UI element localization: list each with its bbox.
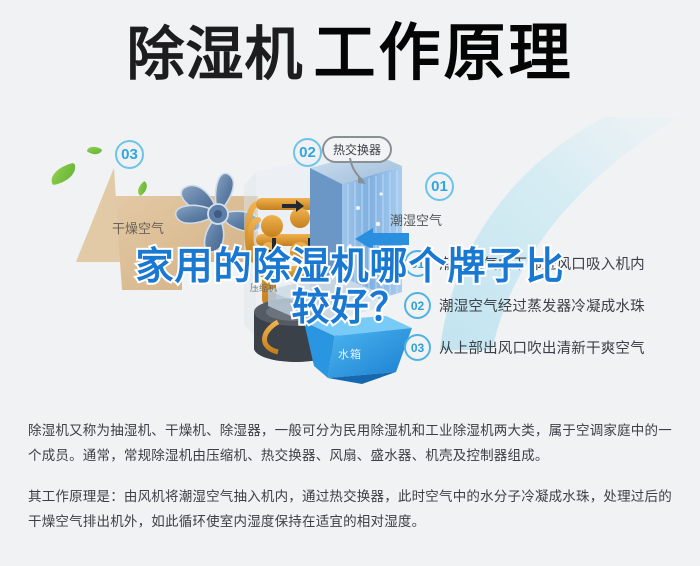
leaf-icon bbox=[87, 143, 103, 157]
compressor-label: 压缩机 bbox=[250, 281, 277, 294]
legend-item: 02 潮湿空气经过蒸发器冷凝成水珠 bbox=[404, 292, 694, 319]
moist-air-label: 潮湿空气 bbox=[390, 210, 442, 229]
legend-item: 03 从上部出风口吹出清新干爽空气 bbox=[404, 334, 694, 361]
inlet-arrow-icon bbox=[355, 228, 409, 250]
callout-tail-icon bbox=[348, 158, 370, 184]
legend-list: 01 潮湿空气由下部进风口吸入机内 02 潮湿空气经过蒸发器冷凝成水珠 03 从… bbox=[404, 250, 694, 376]
diagram-badge-03: 03 bbox=[115, 140, 144, 169]
legend-number: 02 bbox=[404, 292, 431, 319]
legend-text: 从上部出风口吹出清新干爽空气 bbox=[439, 337, 645, 358]
legend-text: 潮湿空气由下部进风口吸入机内 bbox=[439, 253, 645, 274]
legend-item: 01 潮湿空气由下部进风口吸入机内 bbox=[404, 250, 694, 277]
page-title: 除湿机工作原理 bbox=[0, 22, 700, 84]
legend-number: 01 bbox=[404, 250, 431, 277]
diagram-badge-01: 01 bbox=[425, 172, 454, 201]
body-paragraph-2: 其工作原理是：由风机将潮湿空气抽入机内，通过热交换器，此时空气中的水分子冷凝成水… bbox=[28, 484, 676, 534]
page-title-part1: 除湿机 bbox=[126, 20, 303, 88]
body-text: 除湿机又称为抽湿机、干燥机、除湿器，一般可分为民用除湿机和工业除湿机两大类，属于… bbox=[28, 418, 676, 534]
legend-number: 03 bbox=[404, 334, 431, 361]
body-paragraph-1: 除湿机又称为抽湿机、干燥机、除湿器，一般可分为民用除湿机和工业除湿机两大类，属于… bbox=[28, 418, 676, 468]
poster-root: 除湿机工作原理 bbox=[0, 0, 700, 566]
dry-air-label: 干燥空气 bbox=[112, 218, 164, 237]
legend-text: 潮湿空气经过蒸发器冷凝成水珠 bbox=[439, 295, 645, 316]
diagram-badge-02: 02 bbox=[293, 138, 322, 167]
page-title-part2: 工作原理 bbox=[314, 16, 574, 89]
water-tank-label: 水箱 bbox=[338, 346, 362, 362]
